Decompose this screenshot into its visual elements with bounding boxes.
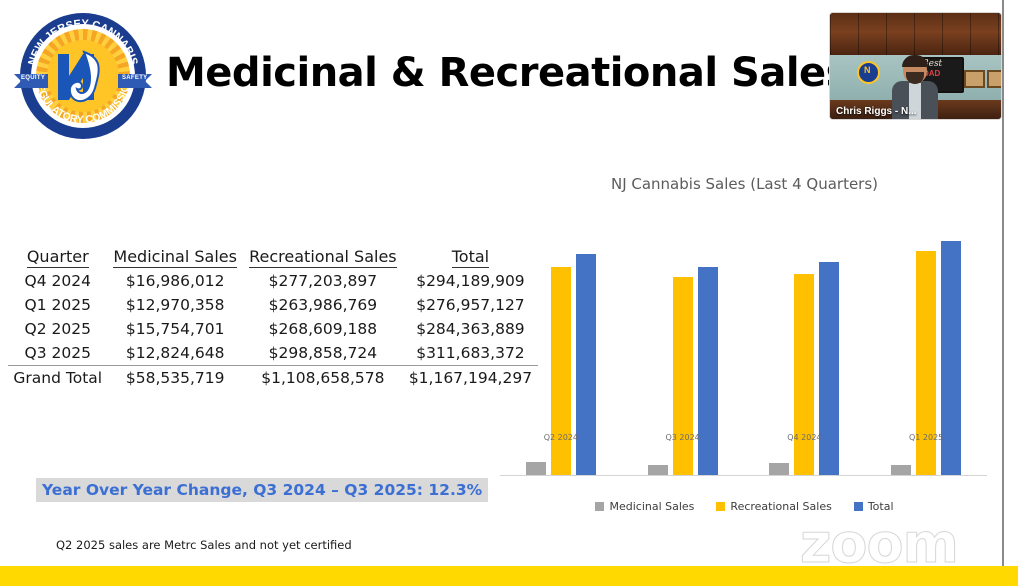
- video-bg-picture-frame-1: [964, 70, 985, 88]
- cell-medicinal: $58,535,719: [107, 366, 242, 391]
- cell-quarter: Q1 2025: [8, 293, 107, 317]
- cell-quarter: Q3 2025: [8, 341, 107, 366]
- table-row: Q3 2025 $12,824,648 $298,858,724 $311,68…: [8, 341, 538, 366]
- legend-swatch-icon: [716, 502, 725, 511]
- cell-recreational: $277,203,897: [243, 269, 403, 293]
- sales-bar-chart: NJ Cannabis Sales (Last 4 Quarters) Medi…: [497, 175, 992, 520]
- chart-x-axis-label: Q3 2024: [622, 433, 744, 442]
- video-participant-name: Chris Riggs - N...: [830, 104, 923, 119]
- chart-bar: [819, 262, 839, 475]
- ribbon-safety-label: SAFETY: [122, 75, 147, 81]
- legend-label: Medicinal Sales: [609, 500, 694, 513]
- sales-table: Quarter Medicinal Sales Recreational Sal…: [8, 245, 538, 390]
- year-over-year-callout: Year Over Year Change, Q3 2024 – Q3 2025…: [36, 478, 488, 502]
- cell-quarter: Q2 2025: [8, 317, 107, 341]
- cell-medicinal: $16,986,012: [107, 269, 242, 293]
- column-header-quarter: Quarter: [8, 245, 107, 269]
- cell-recreational: $263,986,769: [243, 293, 403, 317]
- chart-x-axis-label: Q2 2024: [500, 433, 622, 442]
- cell-quarter: Q4 2024: [8, 269, 107, 293]
- video-participant-tile[interactable]: Best DAD Chris Riggs - N...: [829, 12, 1002, 120]
- chart-legend-item[interactable]: Medicinal Sales: [595, 500, 694, 513]
- cell-quarter: Grand Total: [8, 366, 107, 391]
- column-header-recreational: Recreational Sales: [243, 245, 403, 269]
- seal-ribbon-banner: [14, 70, 152, 92]
- video-person-hair: [902, 55, 928, 67]
- chart-bar: [551, 267, 571, 475]
- chart-bar: [698, 267, 718, 475]
- njcrc-seal-logo: NEW JERSEY CANNABIS REGULATORY COMMISSIO…: [12, 10, 154, 142]
- page-title: Medicinal & Recreational Sales(Last Four: [166, 50, 940, 96]
- video-bg-njcrc-seal: [857, 61, 880, 84]
- chart-bar: [769, 463, 789, 475]
- table-body: Q4 2024 $16,986,012 $277,203,897 $294,18…: [8, 269, 538, 390]
- chart-bar: [526, 462, 546, 475]
- slide-bottom-accent-bar: [0, 566, 1018, 586]
- chart-bar: [648, 465, 668, 475]
- column-header-medicinal: Medicinal Sales: [107, 245, 242, 269]
- table-header-row: Quarter Medicinal Sales Recreational Sal…: [8, 245, 538, 269]
- video-bg-cabinet-seams: [830, 13, 1001, 55]
- chart-x-axis-label: Q4 2024: [744, 433, 866, 442]
- cell-recreational: $268,609,188: [243, 317, 403, 341]
- chart-bar: [673, 277, 693, 475]
- zoom-watermark: zoom: [800, 512, 958, 568]
- cell-recreational: $298,858,724: [243, 341, 403, 366]
- cell-medicinal: $15,754,701: [107, 317, 242, 341]
- presentation-slide: NEW JERSEY CANNABIS REGULATORY COMMISSIO…: [0, 0, 1004, 568]
- table-row: Q1 2025 $12,970,358 $263,986,769 $276,95…: [8, 293, 538, 317]
- sales-table-wrapper: Quarter Medicinal Sales Recreational Sal…: [8, 245, 538, 390]
- video-bg-picture-frame-2: [987, 70, 1002, 88]
- ribbon-equity-label: EQUITY: [21, 75, 45, 81]
- footnote-text: Q2 2025 sales are Metrc Sales and not ye…: [56, 538, 352, 552]
- legend-swatch-icon: [854, 502, 863, 511]
- table-row-grand-total: Grand Total $58,535,719 $1,108,658,578 $…: [8, 366, 538, 391]
- table-row: Q4 2024 $16,986,012 $277,203,897 $294,18…: [8, 269, 538, 293]
- cell-medicinal: $12,824,648: [107, 341, 242, 366]
- cell-recreational: $1,108,658,578: [243, 366, 403, 391]
- page-title-main: Medicinal & Recreational Sales: [166, 50, 849, 96]
- chart-x-axis-label: Q1 2025: [865, 433, 987, 442]
- chart-bar: [891, 465, 911, 475]
- chart-bar: [794, 274, 814, 475]
- table-row: Q2 2025 $15,754,701 $268,609,188 $284,36…: [8, 317, 538, 341]
- chart-title: NJ Cannabis Sales (Last 4 Quarters): [497, 175, 992, 193]
- legend-swatch-icon: [595, 502, 604, 511]
- cell-medicinal: $12,970,358: [107, 293, 242, 317]
